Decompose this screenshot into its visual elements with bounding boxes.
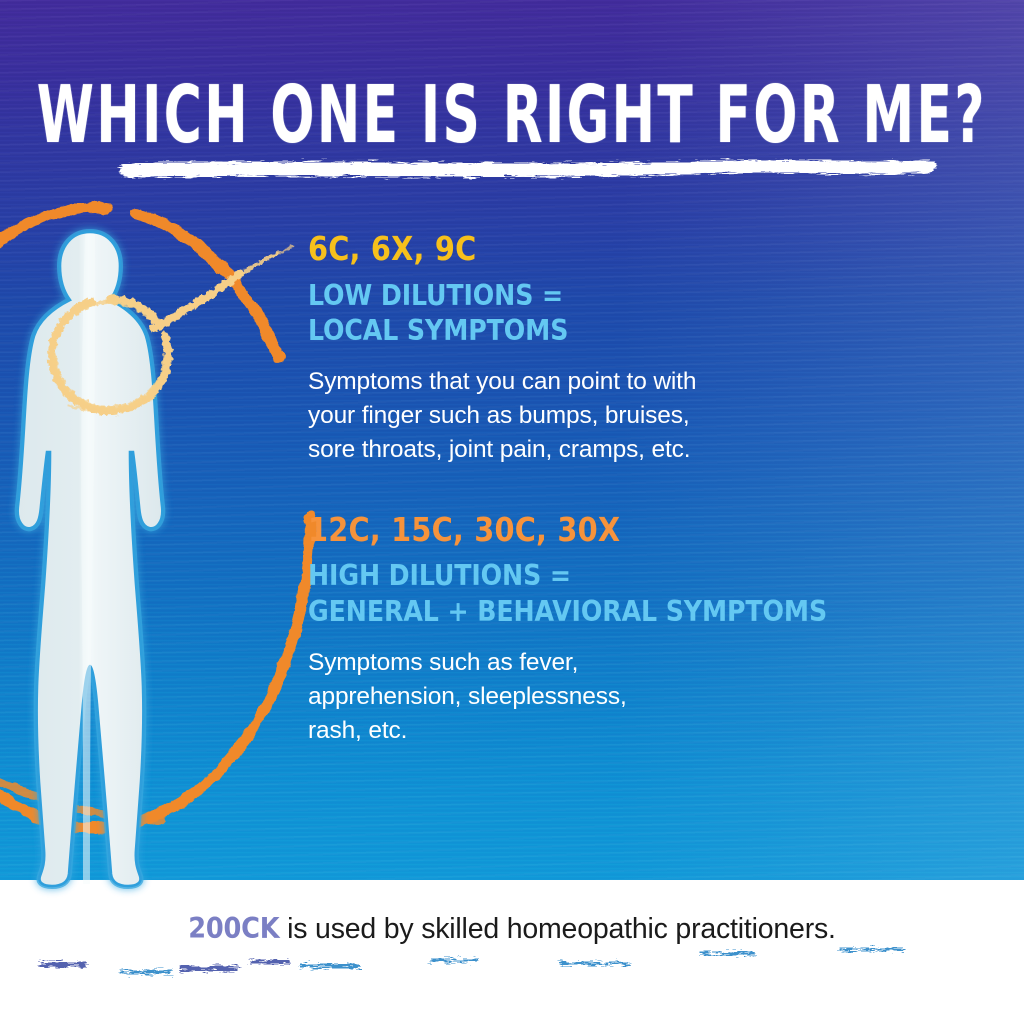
- subhead-low-line2: LOCAL SYMPTOMS: [308, 313, 958, 348]
- body-high-line3: rash, etc.: [308, 714, 968, 748]
- body-high-line2: apprehension, sleeplessness,: [308, 680, 968, 714]
- footer-note: 200CK is used by skilled homeopathic pra…: [0, 912, 1024, 946]
- body-low-line1: Symptoms that you can point to with: [308, 365, 968, 399]
- infographic-poster: WHICH ONE IS RIGHT FOR ME?: [0, 0, 1024, 1024]
- potency-list-high: 12C, 15C, 30C, 30X: [308, 513, 948, 548]
- subhead-high-line2: GENERAL + BEHAVIORAL SYMPTOMS: [308, 594, 958, 629]
- subhead-low-line1: LOW DILUTIONS =: [308, 278, 958, 313]
- section-low-dilutions: 6C, 6X, 9C LOW DILUTIONS = LOCAL SYMPTOM…: [308, 232, 968, 467]
- body-low: Symptoms that you can point to with your…: [308, 365, 968, 466]
- section-high-dilutions: 12C, 15C, 30C, 30X HIGH DILUTIONS = GENE…: [308, 513, 968, 748]
- page-title: WHICH ONE IS RIGHT FOR ME?: [37, 76, 987, 155]
- footer-accent-200ck: 200CK: [188, 912, 279, 945]
- body-high-line1: Symptoms such as fever,: [308, 646, 968, 680]
- body-illustration: [0, 170, 360, 930]
- content-column: 6C, 6X, 9C LOW DILUTIONS = LOCAL SYMPTOM…: [308, 232, 968, 747]
- body-low-line3: sore throats, joint pain, cramps, etc.: [308, 433, 968, 467]
- subhead-high: HIGH DILUTIONS = GENERAL + BEHAVIORAL SY…: [308, 558, 958, 629]
- footer-text: is used by skilled homeopathic practitio…: [279, 913, 835, 945]
- subhead-low: LOW DILUTIONS = LOCAL SYMPTOMS: [308, 278, 958, 349]
- human-silhouette: [18, 232, 163, 886]
- title-container: WHICH ONE IS RIGHT FOR ME?: [0, 76, 1024, 136]
- body-low-line2: your finger such as bumps, bruises,: [308, 399, 968, 433]
- subhead-high-line1: HIGH DILUTIONS =: [308, 558, 958, 593]
- potency-list-low: 6C, 6X, 9C: [308, 232, 948, 267]
- body-high: Symptoms such as fever, apprehension, sl…: [308, 646, 968, 747]
